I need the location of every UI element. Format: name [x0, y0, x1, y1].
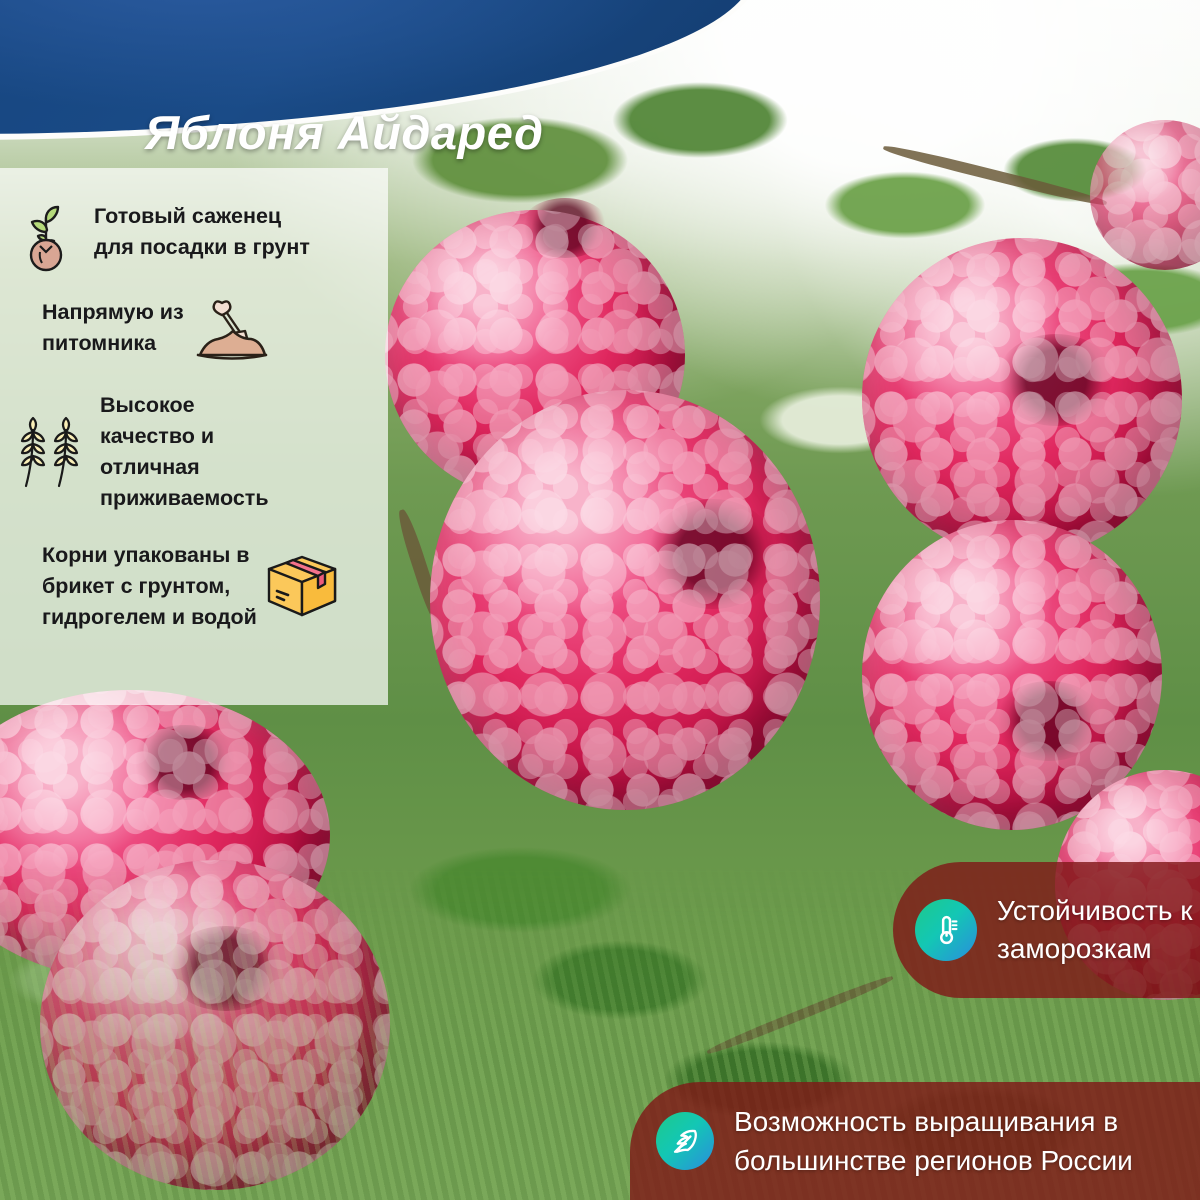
seedling-icon: [10, 192, 82, 272]
feature-item: Корни упакованы в брикет с грунтом, гидр…: [42, 540, 382, 633]
feature-item: Готовый саженец для посадки в грунт: [10, 192, 380, 272]
status-badge-frost-resistance: Устойчивость к заморозкам: [893, 862, 1200, 998]
feature-label: Готовый саженец для посадки в грунт: [94, 201, 310, 263]
wheat-icon: [8, 410, 94, 494]
badge-label: Возможность выращивания в большинстве ре…: [734, 1102, 1133, 1180]
badge-label: Устойчивость к заморозкам: [997, 892, 1192, 968]
feature-panel: Готовый саженец для посадки в грунт Напр…: [0, 168, 388, 705]
thermometer-icon: [915, 899, 977, 961]
feature-item: Высокое качество и отличная приживаемост…: [8, 390, 378, 514]
product-listing-card: Яблоня Айдаред Готовый с: [0, 0, 1200, 1200]
shovel-soil-icon: [192, 293, 272, 363]
status-badge-growing-regions: Возможность выращивания в большинстве ре…: [630, 1082, 1200, 1200]
feature-label: Напрямую из питомника: [42, 297, 184, 359]
page-title: Яблоня Айдаред: [145, 105, 544, 160]
leaf-icon: [656, 1112, 714, 1170]
package-box-icon: [263, 551, 341, 623]
feature-item: Напрямую из питомника: [42, 293, 372, 363]
feature-label: Корни упакованы в брикет с грунтом, гидр…: [42, 540, 257, 633]
feature-label: Высокое качество и отличная приживаемост…: [100, 390, 269, 514]
